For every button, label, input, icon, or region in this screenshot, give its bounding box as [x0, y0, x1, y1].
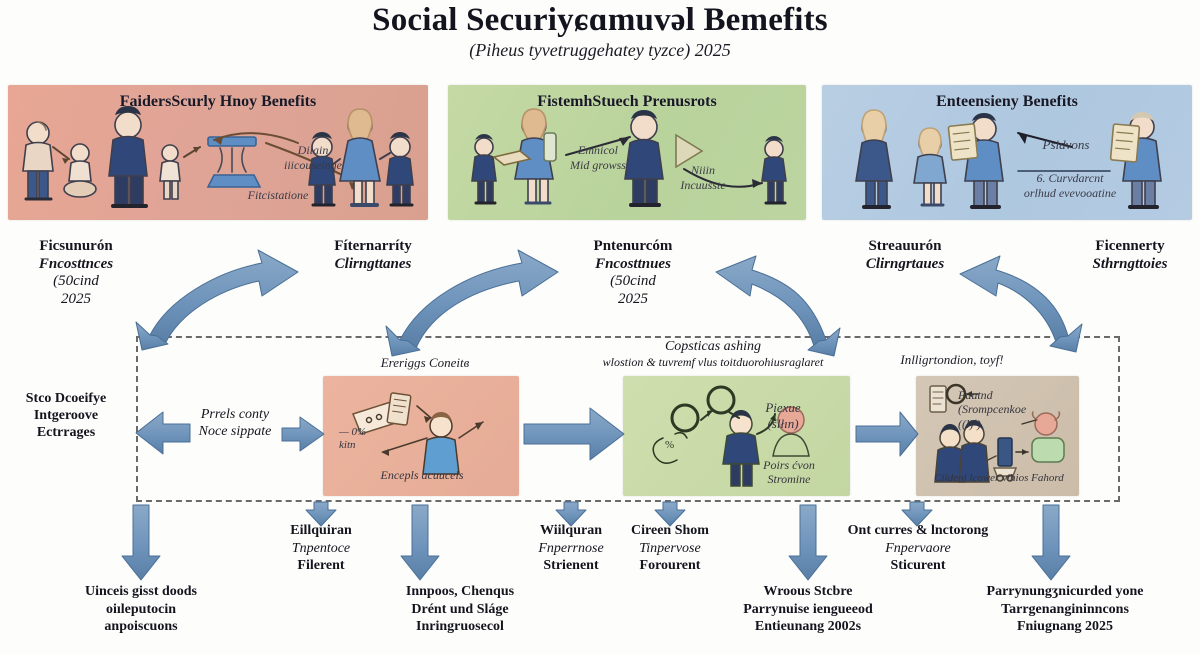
caption-right-mid: Streauurón Clirngrtaues — [820, 238, 990, 273]
page-title: Social Securiyɕɑmuvəl Bemefits — [0, 2, 1200, 39]
panel-system-payments: FistemhStuech Prenusrots Emnicol Mid gro… — [448, 85, 806, 220]
card-earnings: — 0% kitn Encepls acuucels — [323, 376, 519, 496]
svg-text:%: % — [665, 439, 674, 451]
funding-note-bottom: Ciidenl lcower vthios Fahord — [920, 472, 1078, 485]
bottom-label-2: Eillquiran Tnpentoce Filerent — [256, 522, 386, 575]
inner-note-left: Prrels conty Noce sippate — [170, 406, 300, 440]
earnings-note-percent: — 0% kitn — [339, 426, 399, 452]
card-funding: Fautnd (Srompcenkoe ((l)¹) Ciidenl lcowe… — [916, 376, 1079, 496]
card-label-earnings: Ererigɡs Coneitв — [350, 355, 500, 371]
bottom-label-3: Innpoos, Chenqus Drént und Sláge Inringr… — [360, 583, 560, 636]
panel-title-system-payments: FistemhStuech Prenusrots — [448, 93, 806, 111]
panel-eligibility-benefits: Enteensieny Benefits Psidvons 6. Curvdar… — [822, 85, 1192, 220]
bottom-label-7: Ont curres & lnctorong Fnpervaore Sticur… — [818, 522, 1018, 575]
card-payments: % Piexue (šlłın) Poirs ćvon Stromine — [623, 376, 850, 496]
caption-left: Ficsunurón Fncosttnces (50cind 2025 — [2, 238, 150, 309]
caption-center: Pntenurcóm Fncosttnues (50cind 2025 — [553, 238, 713, 309]
caption-right: Ficennerty Sthrngttoies — [1055, 238, 1200, 273]
panel-family-benefits: FaidersScurly Hnoy Benefits Dilain iiico… — [8, 85, 428, 220]
card-label-funding: Inlligrtondion, toyf! — [862, 352, 1042, 368]
payments-note-bottom: Poirs ćvon Stromine — [741, 458, 837, 487]
caption-left-mid: Fíternarríty Clirngttanes — [293, 238, 453, 273]
bridge-note-center: Copsticas ashing wlostion & tuvremf vlus… — [548, 338, 878, 370]
bottom-label-5: Cireen Shom Tinpervose Forourent — [600, 522, 740, 575]
panel-title-eligibility-benefits: Enteensieny Benefits — [822, 93, 1192, 111]
payments-note-top: Piexue (šlłın) — [743, 400, 823, 431]
bottom-label-1: Uinceis giѕst doods oiıleputocin anpoisc… — [36, 583, 246, 636]
funding-note-top: Fautnd (Srompcenkoe ((l)¹) — [958, 388, 1070, 431]
earnings-note-caption: Encepls acuucels — [347, 468, 497, 482]
page-subtitle: (Piheus tyvetruggehatey tyzce) 2025 — [0, 40, 1200, 61]
side-left-note: Stco Dcoeifye Intgeroove Ectrrages — [0, 390, 132, 441]
bottom-label-8: Parrynungʒnicurded yone Tarrgenangininnc… — [945, 583, 1185, 636]
panel-title-family-benefits: FaidersScurly Hnoy Benefits — [8, 93, 428, 111]
bottom-label-6: Wroous Stcbre Parrynuise iengueeod Entie… — [713, 583, 903, 636]
infographic-canvas: Social Securiyɕɑmuvəl Bemefits (Piheus t… — [0, 0, 1200, 654]
